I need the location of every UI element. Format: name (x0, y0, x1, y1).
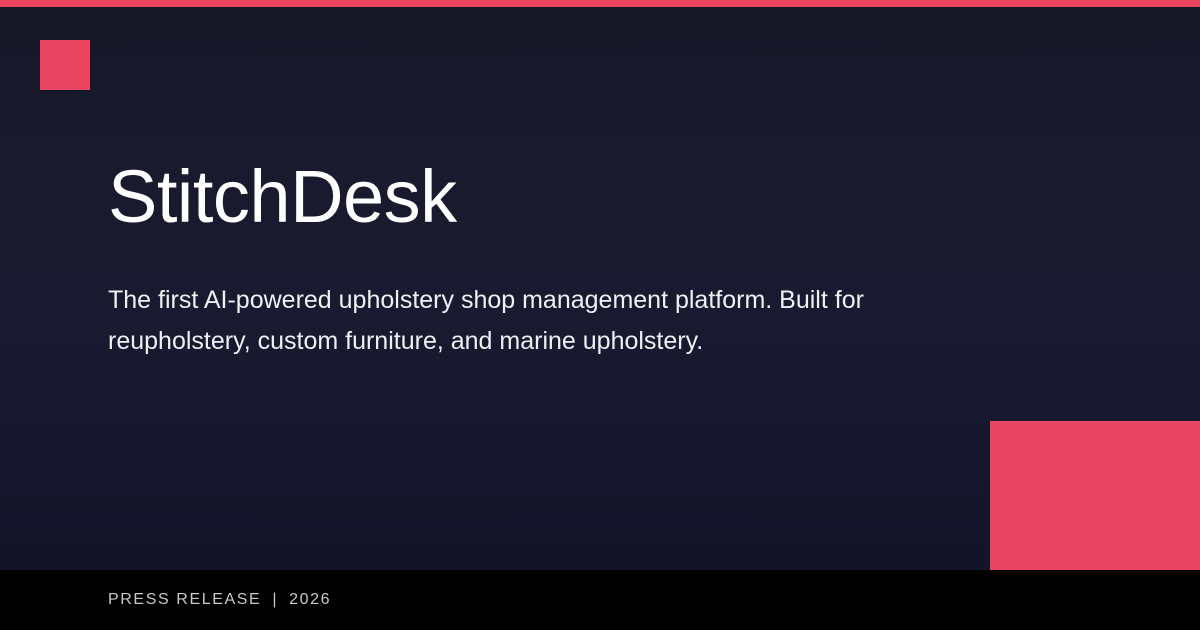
footer-meta: PRESS RELEASE | 2026 (108, 570, 331, 630)
accent-block (990, 421, 1200, 570)
footer-label: PRESS RELEASE (108, 591, 261, 609)
top-accent-bar (0, 0, 1200, 7)
hero-content: StitchDesk The first AI-powered upholste… (108, 160, 1008, 361)
page-title: StitchDesk (108, 160, 1008, 234)
brand-square-mark-icon (40, 40, 90, 90)
footer-bar: PRESS RELEASE | 2026 (0, 570, 1200, 630)
footer-year: 2026 (289, 591, 331, 609)
page-subtitle: The first AI-powered upholstery shop man… (108, 234, 988, 361)
footer-separator: | (261, 591, 289, 609)
press-release-card: StitchDesk The first AI-powered upholste… (0, 0, 1200, 630)
